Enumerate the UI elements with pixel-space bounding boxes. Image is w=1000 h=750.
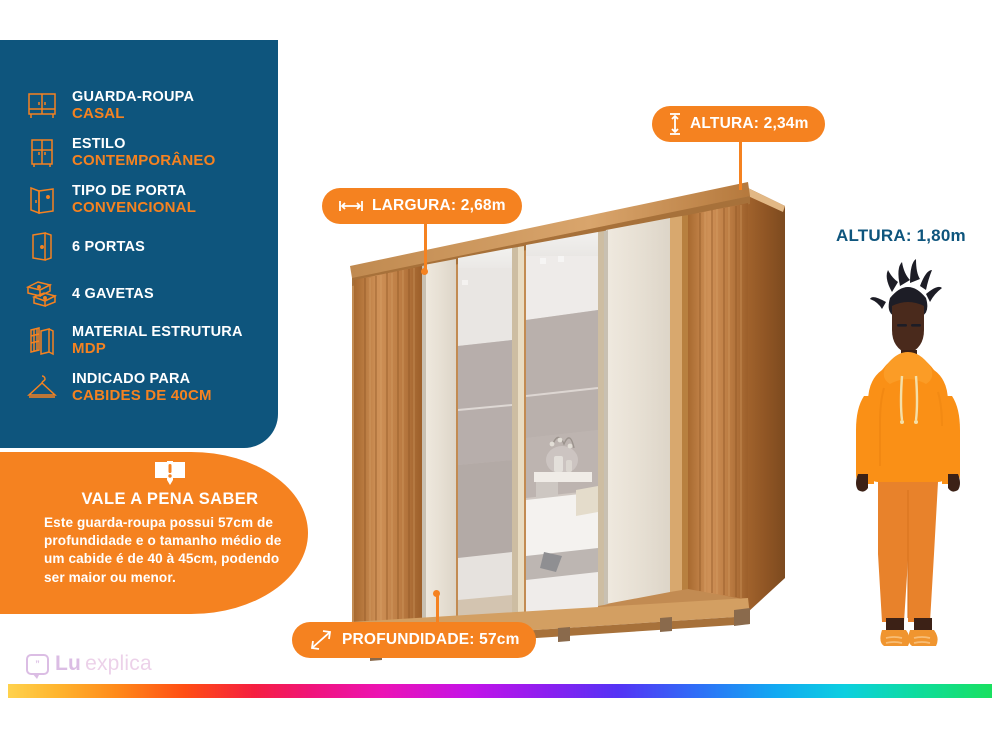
largura-leader-line (424, 224, 427, 272)
spec-label: ESTILO (72, 136, 215, 152)
product-infographic: GUARDA-ROUPA CASAL (0, 0, 1000, 750)
bubble-glyph: ” (35, 659, 40, 669)
spec-row-tipo-porta: TIPO DE PORTA CONVENCIONAL (20, 178, 270, 222)
spec-row-material: MATERIAL ESTRUTURA MDP (20, 319, 270, 363)
largura-leader-dot (421, 268, 428, 275)
badge-altura: ALTURA: 2,34m (652, 106, 825, 142)
open-door-icon (20, 226, 64, 268)
spec-label: 4 GAVETAS (72, 286, 154, 302)
spec-value: MDP (72, 341, 243, 358)
wardrobe-double-icon (20, 85, 64, 127)
spec-row-gavetas: 4 GAVETAS (20, 272, 270, 316)
spec-row-portas: 6 PORTAS (20, 225, 270, 269)
spec-value: CABIDES DE 40CM (72, 388, 212, 405)
person-illustration (838, 258, 978, 663)
spec-panel: GUARDA-ROUPA CASAL (0, 40, 278, 448)
profundidade-leader-dot (433, 590, 440, 597)
lu-explica-logo: ” Lu explica (26, 652, 152, 676)
spec-list: GUARDA-ROUPA CASAL (20, 84, 270, 413)
wardrobe-door-type-icon (20, 179, 64, 221)
spec-label: 6 PORTAS (72, 239, 145, 255)
hanger-icon (20, 367, 64, 409)
spec-label: TIPO DE PORTA (72, 183, 196, 199)
vertical-arrow-icon (668, 112, 682, 136)
wardrobe-illustration (330, 160, 800, 675)
logo-word-lu: Lu (55, 652, 81, 676)
badge-largura: LARGURA: 2,68m (322, 188, 522, 224)
tip-callout: VALE A PENA SABER Este guarda-roupa poss… (44, 458, 296, 587)
tip-title: VALE A PENA SABER (44, 490, 296, 509)
spec-label: MATERIAL ESTRUTURA (72, 324, 243, 340)
badge-profundidade-text: PROFUNDIDADE: 57cm (342, 631, 520, 649)
badge-profundidade: PROFUNDIDADE: 57cm (292, 622, 536, 658)
badge-largura-text: LARGURA: 2,68m (372, 197, 506, 215)
speech-bubble-icon: ” (26, 654, 49, 675)
horizontal-arrow-icon (338, 199, 364, 213)
spec-label: GUARDA-ROUPA (72, 89, 194, 105)
spec-row-cabides: INDICADO PARA CABIDES DE 40CM (20, 366, 270, 410)
spec-row-guarda-roupa: GUARDA-ROUPA CASAL (20, 84, 270, 128)
wardrobe-style-icon (20, 132, 64, 174)
tip-body: Este guarda-roupa possui 57cm de profund… (44, 514, 296, 587)
drawers-icon (20, 273, 64, 315)
mdp-boards-icon (20, 320, 64, 362)
diagonal-arrow-icon (308, 628, 334, 652)
badge-altura-text: ALTURA: 2,34m (690, 115, 809, 133)
spec-value: CASAL (72, 106, 194, 123)
rainbow-divider (8, 684, 992, 698)
spec-label: INDICADO PARA (72, 371, 212, 387)
exclamation-book-icon (44, 458, 296, 488)
spec-value: CONVENCIONAL (72, 200, 196, 217)
spec-row-estilo: ESTILO CONTEMPORÂNEO (20, 131, 270, 175)
spec-value: CONTEMPORÂNEO (72, 153, 215, 170)
person-height-label: ALTURA: 1,80m (836, 226, 966, 246)
logo-word-explica: explica (85, 652, 152, 676)
altura-leader-line (739, 142, 742, 190)
